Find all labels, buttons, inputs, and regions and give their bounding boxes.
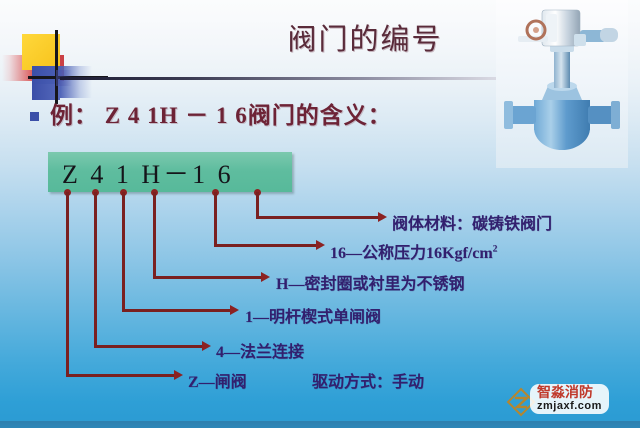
leader-arrow-5 bbox=[316, 240, 325, 250]
slide-canvas: 阀门的编号 例： Z 4 1H － 1 6阀门的含义： bbox=[0, 0, 640, 428]
leader-arrow-3 bbox=[230, 305, 239, 315]
label-nominal-pressure: 16—公称压力16Kgf/cm2 bbox=[330, 239, 497, 263]
leader-arrow-4 bbox=[261, 272, 270, 282]
leader-h-3 bbox=[122, 309, 232, 312]
leader-h-1 bbox=[66, 374, 176, 377]
watermark: 智淼消防 zmjaxf.com bbox=[506, 384, 630, 420]
subtitle-row: 例： Z 4 1H － 1 6阀门的含义： bbox=[30, 96, 392, 130]
valve-code-box: Z 4 1 H－1 6 bbox=[48, 152, 292, 192]
leader-arrow-1 bbox=[174, 370, 183, 380]
watermark-url: zmjaxf.com bbox=[537, 400, 602, 412]
watermark-textbox: 智淼消防 zmjaxf.com bbox=[530, 384, 609, 414]
label-connection-type: 4—法兰连接 bbox=[216, 338, 304, 362]
label-nominal-pressure-text: 16—公称压力16Kgf/cm bbox=[330, 245, 493, 262]
leader-v-2 bbox=[94, 192, 97, 345]
decor-vertical-line bbox=[55, 30, 58, 104]
bottom-strip bbox=[0, 421, 640, 428]
label-valve-body-material: 阀体材料：碳铸铁阀门 bbox=[392, 210, 552, 234]
label-valve-type: Z—闸阀 bbox=[188, 368, 247, 392]
label-drive-mode: 驱动方式：手动 bbox=[312, 368, 424, 392]
label-valve-structure: 1—明杆楔式单闸阀 bbox=[245, 303, 381, 327]
leader-v-4 bbox=[153, 192, 156, 276]
subtitle-text: 例： Z 4 1H － 1 6阀门的含义： bbox=[50, 96, 392, 130]
title-divider bbox=[60, 77, 565, 80]
bullet-icon bbox=[30, 112, 39, 121]
leader-h-5 bbox=[214, 244, 318, 247]
leader-h-2 bbox=[94, 345, 204, 348]
valve-code-text: Z 4 1 H－1 6 bbox=[48, 154, 234, 191]
leader-arrow-6 bbox=[378, 212, 387, 222]
watermark-brand: 智淼消防 bbox=[537, 385, 602, 400]
leader-v-5 bbox=[214, 192, 217, 244]
page-title: 阀门的编号 bbox=[250, 16, 480, 58]
leader-v-3 bbox=[122, 192, 125, 309]
label-nominal-pressure-sup: 2 bbox=[493, 244, 498, 255]
leader-h-6 bbox=[256, 216, 380, 219]
label-seal-ring-material: H—密封圈或衬里为不锈钢 bbox=[276, 270, 464, 294]
leader-h-4 bbox=[153, 276, 263, 279]
leader-arrow-2 bbox=[202, 341, 211, 351]
leader-v-1 bbox=[66, 192, 69, 374]
valve-photo bbox=[496, 0, 628, 168]
leader-v-6 bbox=[256, 192, 259, 216]
